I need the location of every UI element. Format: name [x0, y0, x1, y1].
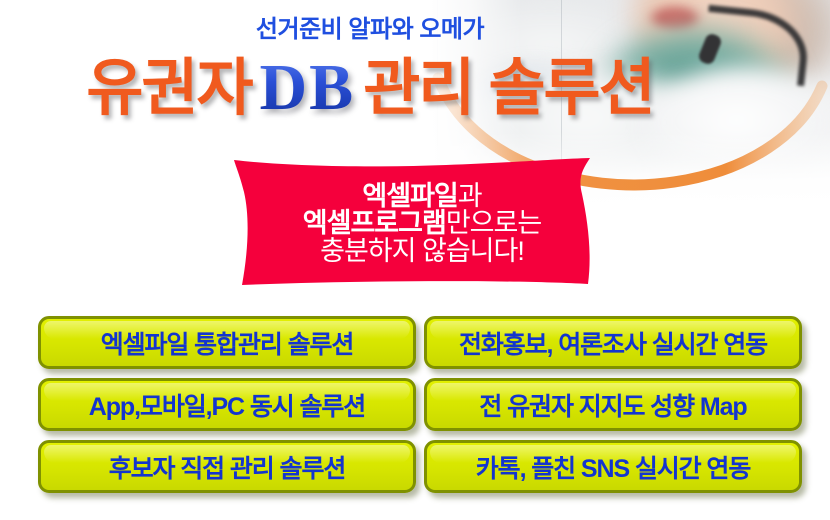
callout-ribbon: 엑셀파일과 엑셀프로그램만으로는 충분하지 않습니다! [216, 156, 612, 288]
callout-line-2-rest: 만으로는 [446, 208, 541, 238]
feature-button-sns-sync[interactable]: 카톡, 플친 SNS 실시간 연동 [424, 440, 802, 493]
page-title: 유권자DB관리 솔루션 [0, 53, 740, 122]
feature-button-support-map[interactable]: 전 유권자 지지도 성향 Map [424, 378, 802, 431]
feature-button-label: 전 유권자 지지도 성향 Map [479, 387, 746, 423]
callout-line-2-strong: 엑셀프로그램 [303, 208, 446, 238]
callout-line-1-rest: 과 [458, 181, 482, 211]
eyebrow-text: 선거준비 알파와 오메가 [0, 18, 740, 42]
callout-line-1: 엑셀파일과 [362, 183, 481, 211]
callout-text: 엑셀파일과 엑셀프로그램만으로는 충분하지 않습니다! [216, 156, 612, 288]
title-part-management: 관리 솔루션 [363, 54, 653, 123]
feature-button-label: 후보자 직접 관리 솔루션 [109, 449, 346, 485]
callout-line-3: 충분하지 않습니다! [320, 238, 524, 266]
feature-button-label: 카톡, 플친 SNS 실시간 연동 [476, 449, 750, 485]
feature-button-grid: 엑셀파일 통합관리 솔루션 전화홍보, 여론조사 실시간 연동 App,모바일,… [38, 316, 798, 493]
feature-button-label: 전화홍보, 여론조사 실시간 연동 [459, 325, 767, 361]
feature-button-phone-survey[interactable]: 전화홍보, 여론조사 실시간 연동 [424, 316, 802, 369]
title-part-db: DB [252, 51, 364, 124]
callout-line-2: 엑셀프로그램만으로는 [303, 210, 541, 238]
headline-block: 선거준비 알파와 오메가 유권자DB관리 솔루션 [0, 18, 740, 122]
promo-banner: 선거준비 알파와 오메가 유권자DB관리 솔루션 엑셀파일과 엑셀프로그램만으로… [0, 0, 830, 520]
callout-line-1-strong: 엑셀파일 [362, 181, 457, 211]
feature-button-candidate-management[interactable]: 후보자 직접 관리 솔루션 [38, 440, 416, 493]
title-part-voter: 유권자 [86, 54, 251, 123]
feature-button-label: App,모바일,PC 동시 솔루션 [89, 387, 365, 423]
feature-button-excel-integration[interactable]: 엑셀파일 통합관리 솔루션 [38, 316, 416, 369]
feature-button-label: 엑셀파일 통합관리 솔루션 [101, 325, 354, 361]
feature-button-multiplatform[interactable]: App,모바일,PC 동시 솔루션 [38, 378, 416, 431]
